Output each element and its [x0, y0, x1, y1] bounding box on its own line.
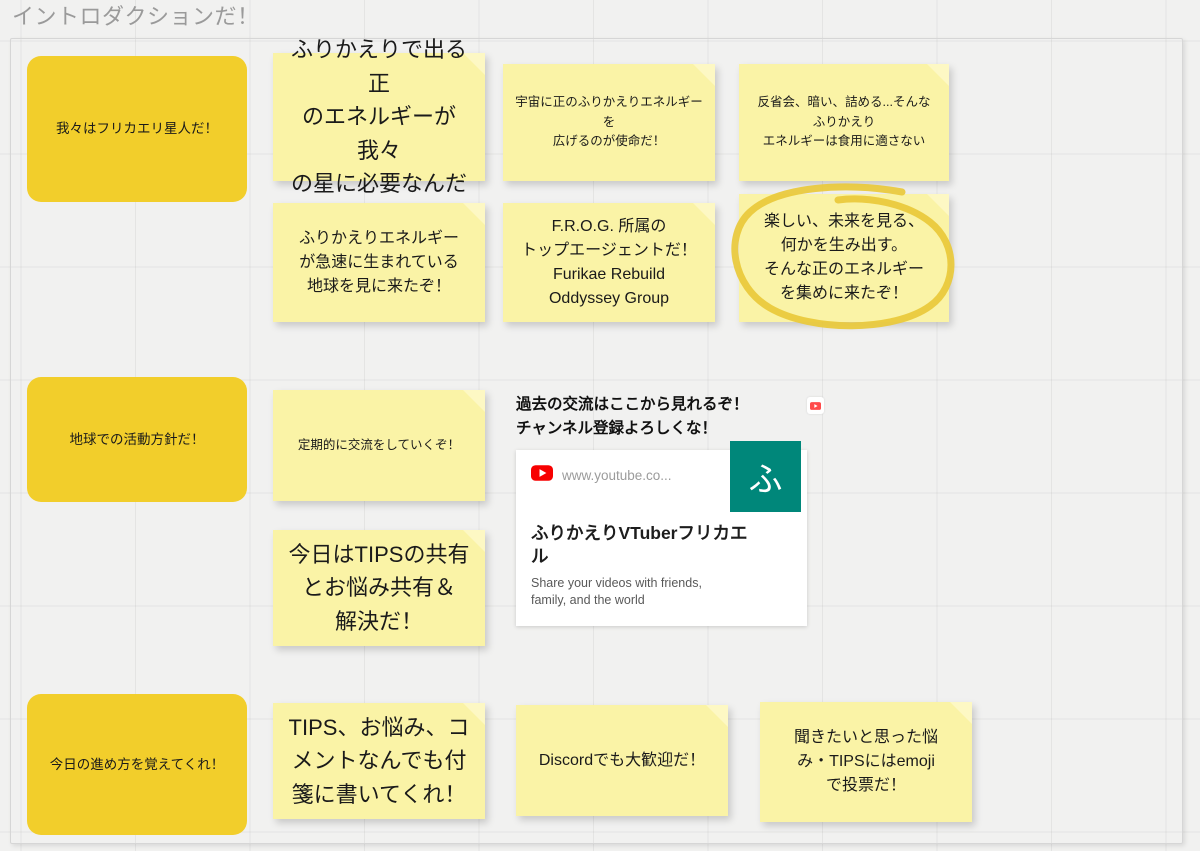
section-shape-activity-policy[interactable]: 地球での活動方針だ！ [27, 377, 247, 502]
sticky-note-today-tips-sharing[interactable]: 今日はTIPSの共有 とお悩み共有＆ 解決だ！ [273, 530, 485, 646]
sticky-note-text: Discordでも大歓迎だ！ [539, 749, 705, 773]
frame-title[interactable]: イントロダクションだ！ [12, 2, 260, 32]
youtube-badge-icon [807, 397, 824, 414]
youtube-thumbnail: ふ [730, 441, 801, 512]
section-shape-label: 今日の進め方を覚えてくれ！ [50, 755, 224, 775]
sticky-note-text: 定期的に交流をしていくぞ！ [298, 436, 460, 455]
sticky-note-positive-energy[interactable]: 楽しい、未来を見る、 何かを生み出す。 そんな正のエネルギー を集めに来たぞ！ [739, 194, 949, 322]
youtube-caption: 過去の交流はここから見れるぞ！ チャンネル登録よろしくな！ [516, 393, 816, 441]
youtube-url-text: www.youtube.co... [562, 468, 672, 483]
sticky-note-text: 今日はTIPSの共有 とお悩み共有＆ 解決だ！ [289, 538, 470, 638]
youtube-channel-description: Share your videos with friends, family, … [531, 575, 746, 610]
sticky-note-text: 宇宙に正のふりかえりエネルギーを 広げるのが使命だ！ [513, 93, 705, 151]
sticky-note-text: 反省会、暗い、詰める...そんな ふりかえり エネルギーは食用に適さない [758, 93, 931, 151]
sticky-note-not-edible[interactable]: 反省会、暗い、詰める...そんな ふりかえり エネルギーは食用に適さない [739, 64, 949, 181]
section-shape-today-flow[interactable]: 今日の進め方を覚えてくれ！ [27, 694, 247, 835]
youtube-channel-title: ふりかえりVTuberフリカエル [531, 522, 763, 568]
sticky-note-frog-agent[interactable]: F.R.O.G. 所属の トップエージェントだ！ Furikae Rebuild… [503, 203, 715, 322]
sticky-note-write-on-sticky[interactable]: TIPS、お悩み、コ メントなんでも付 箋に書いてくれ！ [273, 703, 485, 819]
sticky-note-text: F.R.O.G. 所属の トップエージェントだ！ Furikae Rebuild… [521, 215, 697, 311]
sticky-note-energy-needed[interactable]: ふりかえりで出る正 のエネルギーが我々 の星に必要なんだ [273, 53, 485, 181]
sticky-note-text: ふりかえりエネルギー が急速に生まれている 地球を見に来たぞ！ [299, 227, 459, 299]
sticky-note-regular-exchange[interactable]: 定期的に交流をしていくぞ！ [273, 390, 485, 501]
section-shape-introduction[interactable]: 我々はフリカエリ星人だ！ [27, 56, 247, 202]
youtube-link-card[interactable]: www.youtube.co... ふ ふりかえりVTuberフリカエル Sha… [516, 450, 807, 626]
youtube-icon [531, 465, 553, 486]
section-shape-label: 地球での活動方針だ！ [70, 430, 205, 450]
section-shape-label: 我々はフリカエリ星人だ！ [56, 119, 218, 139]
sticky-note-text: TIPS、お悩み、コ メントなんでも付 箋に書いてくれ！ [289, 711, 470, 811]
sticky-note-mission[interactable]: 宇宙に正のふりかえりエネルギーを 広げるのが使命だ！ [503, 64, 715, 181]
sticky-note-discord-welcome[interactable]: Discordでも大歓迎だ！ [516, 705, 728, 816]
youtube-thumbnail-char: ふ [749, 452, 783, 501]
sticky-note-emoji-vote[interactable]: 聞きたいと思った悩 み・TIPSにはemoji で投票だ！ [760, 702, 972, 822]
whiteboard-canvas[interactable]: イントロダクションだ！ 我々はフリカエリ星人だ！ ふりかえりで出る正 のエネルギ… [0, 0, 1200, 851]
sticky-note-text: 楽しい、未来を見る、 何かを生み出す。 そんな正のエネルギー を集めに来たぞ！ [764, 210, 924, 306]
sticky-note-came-to-earth[interactable]: ふりかえりエネルギー が急速に生まれている 地球を見に来たぞ！ [273, 203, 485, 322]
sticky-note-text: ふりかえりで出る正 のエネルギーが我々 の星に必要なんだ [283, 33, 475, 200]
youtube-embed-block[interactable]: 過去の交流はここから見れるぞ！ チャンネル登録よろしくな！ www.youtub… [516, 393, 816, 626]
sticky-note-text: 聞きたいと思った悩 み・TIPSにはemoji で投票だ！ [794, 726, 938, 798]
